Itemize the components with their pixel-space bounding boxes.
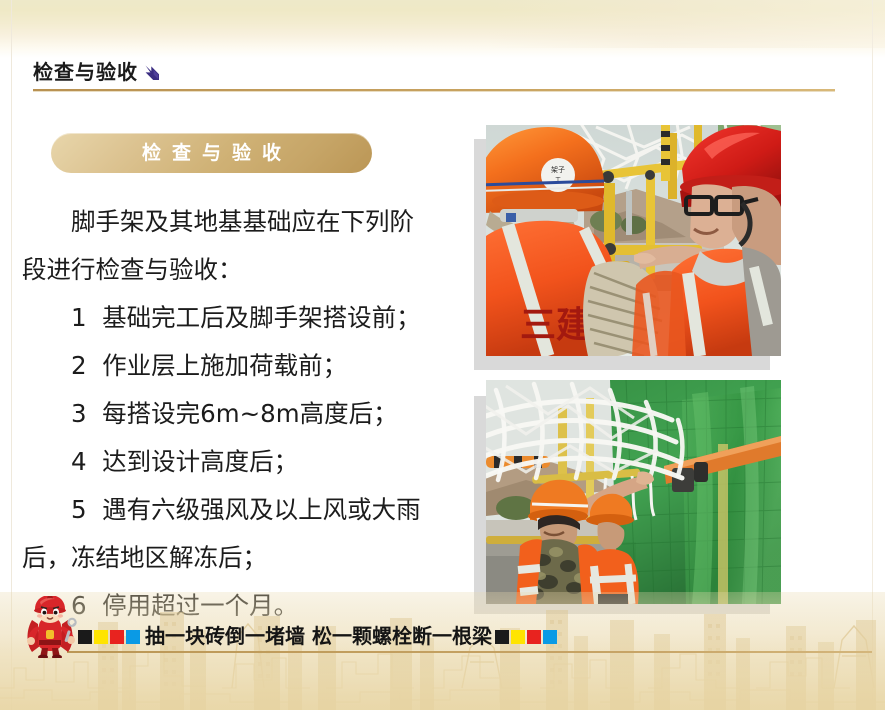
list-item-5: 5 遇有六级强风及以上风或大雨 bbox=[22, 486, 462, 534]
body-text-block: 脚手架及其地基基础应在下列阶 段进行检查与验收： 1 基础完工后及脚手架搭设前；… bbox=[22, 198, 462, 630]
square-blue-left bbox=[126, 630, 140, 644]
list-item-3: 3 每搭设完6m~8m高度后； bbox=[22, 390, 462, 438]
photo-card-bottom bbox=[470, 368, 780, 613]
construction-worker-mascot-icon bbox=[22, 596, 78, 658]
list-item-4: 4 达到设计高度后； bbox=[22, 438, 462, 486]
square-black-left bbox=[78, 630, 92, 644]
footer-squares-right bbox=[495, 622, 559, 650]
slide-header: 检查与验收 bbox=[33, 58, 853, 96]
list-item-1: 1 基础完工后及脚手架搭设前； bbox=[22, 294, 462, 342]
arrow-down-right-icon bbox=[140, 61, 164, 85]
section-title-text: 检查与验收 bbox=[51, 133, 372, 173]
list-item-5-cont: 后，冻结地区解冻后； bbox=[22, 534, 462, 582]
intro-line-1: 脚手架及其地基基础应在下列阶 bbox=[22, 198, 462, 246]
top-gradient-overlay bbox=[0, 0, 885, 48]
square-yellow-right bbox=[511, 630, 525, 644]
square-blue-right bbox=[543, 630, 557, 644]
square-red-left bbox=[110, 630, 124, 644]
footer-divider bbox=[67, 651, 872, 653]
footer-slogan-bar: 抽一块砖倒一堵墙 松一颗螺栓断一根梁 bbox=[78, 620, 559, 648]
square-black-right bbox=[495, 630, 509, 644]
footer-squares-left bbox=[78, 622, 142, 650]
photo-scaffold-inspection-top: 架子 工 三建 bbox=[486, 125, 781, 356]
photo-card-top: 架子 工 三建 bbox=[470, 113, 780, 368]
square-yellow-left bbox=[94, 630, 108, 644]
header-divider-shadow bbox=[33, 91, 835, 92]
list-item-2: 2 作业层上施加荷载前； bbox=[22, 342, 462, 390]
svg-text:三建: 三建 bbox=[520, 305, 592, 346]
svg-text:架子: 架子 bbox=[551, 166, 565, 174]
intro-line-2: 段进行检查与验收： bbox=[22, 246, 462, 294]
footer-slogan-text: 抽一块砖倒一堵墙 松一颗螺栓断一根梁 bbox=[142, 622, 495, 650]
section-title-banner: 检查与验收 bbox=[51, 133, 372, 173]
slide-canvas: 检查与验收 检查与验收 脚手架及其地基基础应在下列阶 段进行检查与验收： 1 基… bbox=[0, 0, 885, 710]
square-red-right bbox=[527, 630, 541, 644]
photo-safety-net-bottom bbox=[486, 380, 781, 604]
header-title: 检查与验收 bbox=[33, 58, 138, 86]
